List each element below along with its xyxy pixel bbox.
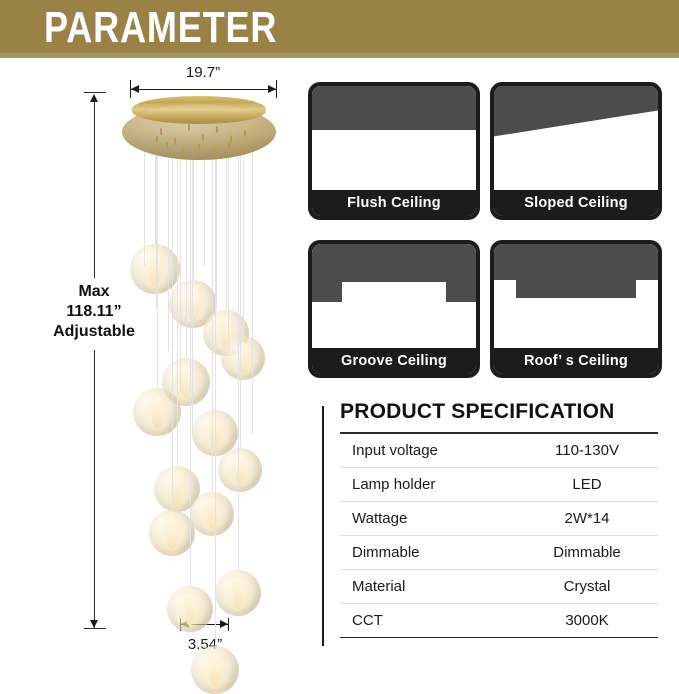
product-dimension-diagram: 19.7” Max 118.11” Adjustable 3.54” <box>0 58 305 662</box>
product-specification-table: PRODUCT SPECIFICATION Input voltage110-1… <box>318 400 662 650</box>
spec-rows: Input voltage110-130VLamp holderLEDWatta… <box>340 432 658 638</box>
spec-row-key: Material <box>340 578 516 595</box>
plate-connector-nub <box>216 126 218 133</box>
ceiling-card-sloped-inner: Sloped Ceiling <box>494 86 658 216</box>
ceiling-surface-roof-left <box>494 244 516 280</box>
ceiling-card-groove-scene <box>312 244 476 348</box>
plate-connector-nub <box>188 124 190 131</box>
spec-row-value: LED <box>516 476 658 493</box>
top-dimension-arrow-right <box>268 85 276 93</box>
plate-connector-nub <box>202 134 204 141</box>
glass-globe-light <box>149 510 195 556</box>
ceiling-card-sloped-label: Sloped Ceiling <box>494 190 658 216</box>
suspension-cable <box>226 144 227 310</box>
height-dimension-tick-top <box>84 92 106 93</box>
suspension-cable <box>238 144 239 570</box>
suspension-cable <box>240 146 241 392</box>
suspension-cable <box>172 144 173 510</box>
ceiling-surface-sloped <box>494 86 658 138</box>
suspension-cable <box>168 146 169 350</box>
ceiling-card-flush-inner: Flush Ceiling <box>312 86 476 216</box>
suspension-cable <box>192 146 193 434</box>
plate-connector-nub <box>228 142 230 149</box>
spec-left-rule <box>322 406 324 646</box>
ceiling-card-roof-inner: Roof’ s Ceiling <box>494 244 658 374</box>
height-dimension-line-lower <box>94 350 95 628</box>
suspension-cable <box>252 146 253 434</box>
spec-row: CCT3000K <box>340 604 658 637</box>
ceiling-card-roof[interactable]: Roof’ s Ceiling <box>490 240 662 378</box>
spec-row-value: Dimmable <box>516 544 658 561</box>
ceiling-plate-shading <box>122 104 276 160</box>
spec-row-key: Lamp holder <box>340 476 516 493</box>
spec-row-key: Input voltage <box>340 442 516 459</box>
height-dimension-line-upper <box>94 96 95 278</box>
ceiling-type-card-grid: Flush Ceiling Sloped Ceiling Groove Ceil… <box>308 82 671 378</box>
plate-connector-nub <box>166 142 168 149</box>
suspension-cable <box>177 144 178 466</box>
glass-globe-light <box>167 586 213 632</box>
suspension-cable <box>180 146 181 392</box>
ceiling-card-flush-scene <box>312 86 476 190</box>
ceiling-surface-groove-right <box>446 244 476 302</box>
ceiling-card-sloped-scene <box>494 86 658 190</box>
ceiling-surface-groove-center <box>342 244 446 282</box>
page-header: PARAMETER <box>0 0 679 58</box>
suspension-cable <box>228 146 229 350</box>
spec-row: Wattage2W*14 <box>340 502 658 536</box>
height-dimension-line2: 118.11” <box>14 302 174 322</box>
spec-rule-bottom <box>340 637 658 639</box>
ceiling-card-flush[interactable]: Flush Ceiling <box>308 82 480 220</box>
spec-row: DimmableDimmable <box>340 536 658 570</box>
suspension-cable <box>216 146 217 308</box>
height-dimension-arrow-bottom <box>90 620 98 628</box>
spec-row-key: Wattage <box>340 510 516 527</box>
spec-row: Input voltage110-130V <box>340 434 658 468</box>
height-dimension-line3: Adjustable <box>14 322 174 342</box>
ceiling-card-sloped[interactable]: Sloped Ceiling <box>490 82 662 220</box>
ceiling-surface-roof-center <box>516 244 636 298</box>
suspension-cable <box>186 144 187 358</box>
spec-row: MaterialCrystal <box>340 570 658 604</box>
suspension-cable <box>156 146 157 308</box>
plate-connector-nub <box>156 136 158 143</box>
plate-connector-nub <box>242 146 244 153</box>
glass-globe-light <box>215 570 261 616</box>
plate-connector-nub <box>198 144 200 151</box>
plate-connector-nub <box>244 130 246 137</box>
spec-row-key: CCT <box>340 612 516 629</box>
top-dimension-arrow-left <box>131 85 139 93</box>
top-dimension-line <box>130 89 276 90</box>
top-dimension-label: 19.7” <box>128 64 278 81</box>
bottom-dimension-tick-right <box>228 618 229 631</box>
ceiling-card-flush-label: Flush Ceiling <box>312 190 476 216</box>
glass-globe-light <box>133 388 181 436</box>
ceiling-card-groove-inner: Groove Ceiling <box>312 244 476 374</box>
bottom-dimension-arrow-right <box>220 620 228 628</box>
height-dimension-arrow-top <box>90 94 98 102</box>
ceiling-card-groove[interactable]: Groove Ceiling <box>308 240 480 378</box>
plate-connector-nub <box>182 148 184 155</box>
ceiling-card-roof-scene <box>494 244 658 348</box>
suspension-cable <box>190 144 191 586</box>
spec-row-value: 110-130V <box>516 442 658 459</box>
ceiling-card-groove-label: Groove Ceiling <box>312 348 476 374</box>
spec-row-value: 2W*14 <box>516 510 658 527</box>
spec-title: PRODUCT SPECIFICATION <box>340 400 614 424</box>
plate-connector-nub <box>160 128 162 135</box>
spec-row-key: Dimmable <box>340 544 516 561</box>
spec-row-value: Crystal <box>516 578 658 595</box>
suspension-cable <box>212 144 213 492</box>
suspension-cable <box>243 144 244 336</box>
ceiling-surface-groove-left <box>312 244 342 302</box>
glass-globe-light <box>218 448 262 492</box>
ceiling-surface-roof-right <box>636 244 658 280</box>
height-dimension-tick-bottom <box>84 628 106 629</box>
spec-row: Lamp holderLED <box>340 468 658 502</box>
ceiling-plate <box>118 96 280 168</box>
glass-globe-light <box>190 492 234 536</box>
ceiling-card-roof-label: Roof’ s Ceiling <box>494 348 658 374</box>
glass-globe-light <box>191 646 239 694</box>
page-title: PARAMETER <box>44 4 277 52</box>
plate-connector-nub <box>230 136 232 143</box>
suspension-cable <box>157 144 158 388</box>
spec-row-value: 3000K <box>516 612 658 629</box>
plate-connector-nub <box>214 148 216 155</box>
ceiling-surface-flush <box>312 86 476 130</box>
plate-connector-nub <box>174 138 176 145</box>
